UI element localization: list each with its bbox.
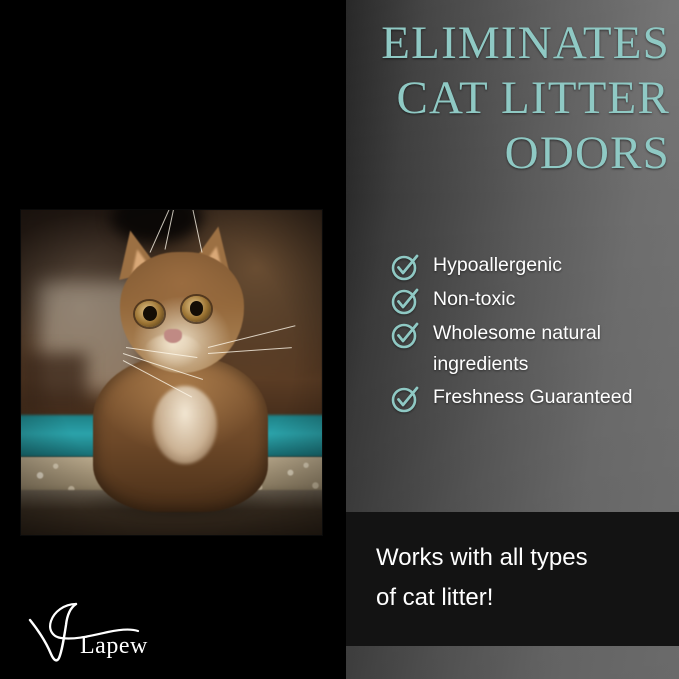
callout-text: Works with all types of cat litter! xyxy=(376,538,665,618)
benefit-item: Non-toxic xyxy=(390,284,675,316)
product-ad-banner: ELIMINATES CAT LITTER ODORS Hypoallergen… xyxy=(0,0,679,679)
benefits-list: Hypoallergenic Non-toxic Wholesome natur… xyxy=(390,250,675,416)
brand-logo: Lapew xyxy=(24,598,174,666)
callout-line-1: Works with all types xyxy=(376,538,665,578)
check-circle-icon xyxy=(390,384,420,414)
benefit-label: Non-toxic xyxy=(433,284,515,315)
photo-vignette xyxy=(21,210,322,535)
headline-line-2: CAT LITTER xyxy=(300,71,670,126)
headline-line-3: ODORS xyxy=(300,126,670,181)
check-circle-icon xyxy=(390,286,420,316)
headline-line-1: ELIMINATES xyxy=(300,16,670,71)
callout-box: Works with all types of cat litter! xyxy=(346,512,679,646)
benefit-label: Freshness Guaranteed xyxy=(433,382,632,413)
headline: ELIMINATES CAT LITTER ODORS xyxy=(300,16,670,181)
check-circle-icon xyxy=(390,320,420,350)
benefit-label: Wholesome natural ingredients xyxy=(433,318,675,380)
benefit-label: Hypoallergenic xyxy=(433,250,562,281)
callout-line-2: of cat litter! xyxy=(376,578,665,618)
check-circle-icon xyxy=(390,252,420,282)
brand-name: Lapew xyxy=(80,633,148,660)
kitten-litter-box-photo xyxy=(21,210,322,535)
benefit-item: Hypoallergenic xyxy=(390,250,675,282)
benefit-item: Wholesome natural ingredients xyxy=(390,318,675,380)
benefit-item: Freshness Guaranteed xyxy=(390,382,675,414)
